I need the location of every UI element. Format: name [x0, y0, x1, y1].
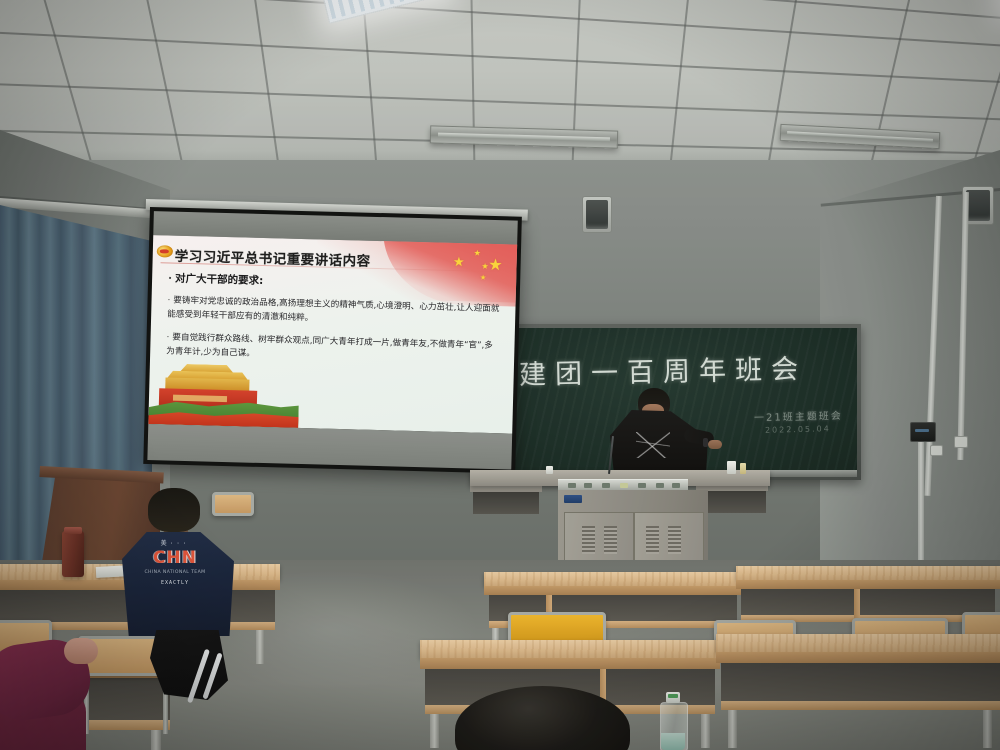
classroom-photo: 建团一百周年班会 一21班主题班会 2022.05.04 ★ ★ ★ ★ ★ 学…: [0, 0, 1000, 750]
flag-star-icon: ★: [474, 249, 481, 257]
bullet-marker: ·: [166, 331, 169, 345]
flag-star-icon: ★: [453, 255, 465, 268]
podium-brand-plate: [564, 495, 582, 503]
water-bottle[interactable]: [660, 692, 686, 750]
blackboard-title: 建团一百周年班会: [519, 347, 808, 392]
power-outlet[interactable]: [954, 436, 968, 448]
tiananmen-gate-illustration: [148, 350, 300, 428]
student-head: [148, 488, 200, 532]
vent-slots: [582, 526, 595, 554]
vent-slots: [668, 526, 681, 554]
thermos-bottle[interactable]: [62, 531, 84, 577]
slide-bullet-1-text: 要铸牢对党忠诚的政治品格,高扬理想主义的精神气质,心境澄明、心力茁壮,让人迎面就…: [167, 295, 499, 323]
projected-slide: ★ ★ ★ ★ ★ 学习习近平总书记重要讲话内容 ·对广大干部的要求: ·要铸牢…: [148, 235, 517, 433]
paper-cup[interactable]: [546, 466, 553, 474]
jacket-chn-logo: CHN: [142, 550, 208, 567]
presenter: [600, 388, 720, 474]
bullet-marker: ·: [167, 294, 170, 308]
slide-heading-text: 对广大干部的要求:: [175, 273, 263, 287]
student-front-head: [455, 686, 645, 750]
podium-right-shelf-void: [700, 491, 766, 513]
party-emblem-icon: [157, 245, 173, 257]
jacket-top-text: 美···: [148, 538, 202, 547]
slide-bullet-1: ·要铸牢对党忠诚的政治品格,高扬理想主义的精神气质,心境澄明、心力茁壮,让人迎面…: [167, 294, 502, 331]
student-maroon-sleeve: [0, 628, 106, 750]
power-outlet[interactable]: [930, 445, 943, 456]
vent-slots: [604, 526, 617, 554]
hoodie-graphic-print: [636, 432, 670, 458]
bullet-marker: ·: [168, 272, 172, 288]
jacket-sub2-text: EXACTLY: [146, 580, 204, 586]
paper-cup[interactable]: [727, 461, 736, 474]
wall-control-box[interactable]: [910, 422, 936, 442]
student-hand: [64, 638, 98, 664]
yellow-cup[interactable]: [740, 463, 746, 474]
blackboard-subtitle: 一21班主题班会: [754, 407, 843, 424]
projection-screen: ★ ★ ★ ★ ★ 学习习近平总书记重要讲话内容 ·对广大干部的要求: ·要铸牢…: [143, 207, 522, 474]
podium-left-shelf-void: [473, 492, 539, 514]
vent-slots: [646, 526, 659, 554]
jacket-sub-text: CHINA NATIONAL TEAM: [136, 570, 214, 575]
presenter-hand: [708, 440, 722, 449]
blackboard-subtitle-2: 2022.05.04: [765, 424, 831, 435]
wall-speaker-icon: [582, 196, 612, 233]
